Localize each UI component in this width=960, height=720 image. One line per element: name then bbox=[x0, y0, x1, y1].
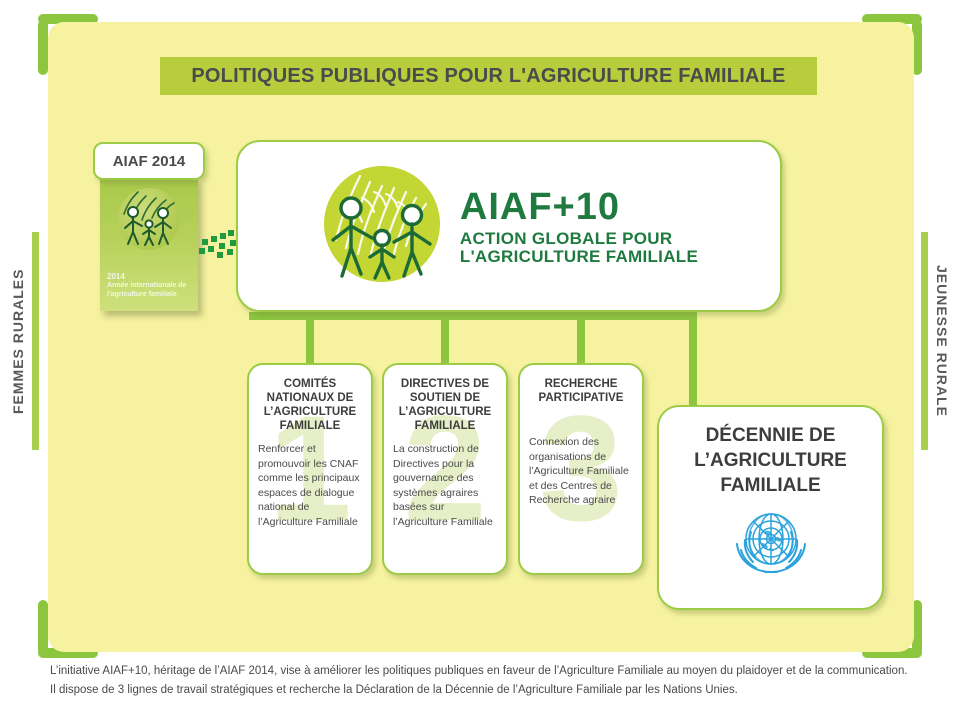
connector-stem-strategy-1 bbox=[306, 312, 314, 367]
strategy-card-1: 1 COMITÉS NATIONAUX DE L’AGRICULTURE FAM… bbox=[247, 363, 373, 575]
frame-bracket-left-top bbox=[38, 20, 48, 75]
strategy-heading-1: COMITÉS NATIONAUX DE L’AGRICULTURE FAMIL… bbox=[257, 377, 363, 433]
strategy-card-3: 3 RECHERCHE PARTICIPATIVE Connexion des … bbox=[518, 363, 644, 575]
logo-title: AIAF+10 bbox=[460, 188, 698, 226]
aiaf-plus-10-emblem-icon bbox=[320, 162, 444, 291]
poster-year: 2014 bbox=[107, 272, 193, 281]
strategy-heading-3: RECHERCHE PARTICIPATIVE bbox=[528, 377, 634, 405]
footer-caption: L’initiative AIAF+10, héritage de l’AIAF… bbox=[50, 662, 912, 700]
connector-stem-strategy-3 bbox=[577, 312, 585, 367]
aiaf-plus-10-card: AIAF+10 ACTION GLOBALE POUR L'AGRICULTUR… bbox=[236, 140, 782, 312]
decennie-title: DÉCENNIE DE L’AGRICULTURE FAMILIALE bbox=[659, 423, 882, 498]
side-label-femmes-rurales: FEMMES RURALES bbox=[6, 236, 30, 446]
side-accent-bar-right bbox=[921, 232, 928, 450]
strategy-body-1: Renforcer et promouvoir les CNAF comme l… bbox=[258, 442, 364, 529]
united-nations-emblem-icon bbox=[725, 506, 817, 583]
frame-bracket-left-bottom bbox=[38, 600, 48, 655]
strategy-body-2: La construction de Directives pour la go… bbox=[393, 442, 499, 529]
poster-emblem-icon bbox=[118, 188, 180, 250]
connector-horizontal-bus bbox=[249, 312, 697, 320]
logo-subtitle-line-1: ACTION GLOBALE POUR bbox=[460, 230, 698, 247]
aiaf-2014-label-card: AIAF 2014 bbox=[93, 142, 205, 180]
aiaf-2014-poster: 2014 Année internationale de l'agricultu… bbox=[100, 178, 198, 311]
infographic-canvas: POLITIQUES PUBLIQUES POUR L'AGRICULTURE … bbox=[0, 0, 960, 720]
poster-line-1: Année internationale de bbox=[107, 282, 186, 289]
side-accent-bar-left bbox=[32, 232, 39, 450]
connector-stem-strategy-2 bbox=[441, 312, 449, 367]
poster-caption: 2014 Année internationale de l'agricultu… bbox=[107, 272, 193, 299]
strategy-body-3: Connexion des organisations de l’Agricul… bbox=[529, 435, 635, 508]
logo-subtitle-line-2: L'AGRICULTURE FAMILIALE bbox=[460, 248, 698, 265]
page-title-banner: POLITIQUES PUBLIQUES POUR L'AGRICULTURE … bbox=[160, 57, 817, 95]
connector-stem-decennie bbox=[689, 312, 697, 410]
side-label-jeunesse-rurale: JEUNESSE RURALE bbox=[930, 236, 954, 446]
page-title: POLITIQUES PUBLIQUES POUR L'AGRICULTURE … bbox=[191, 65, 785, 88]
strategy-card-2: 2 DIRECTIVES DE SOUTIEN DE L’AGRICULTURE… bbox=[382, 363, 508, 575]
strategy-heading-2: DIRECTIVES DE SOUTIEN DE L’AGRICULTURE F… bbox=[392, 377, 498, 433]
aiaf-2014-label-text: AIAF 2014 bbox=[113, 153, 186, 170]
poster-line-2: l'agriculture familiale bbox=[107, 291, 177, 298]
decennie-card: DÉCENNIE DE L’AGRICULTURE FAMILIALE bbox=[657, 405, 884, 610]
